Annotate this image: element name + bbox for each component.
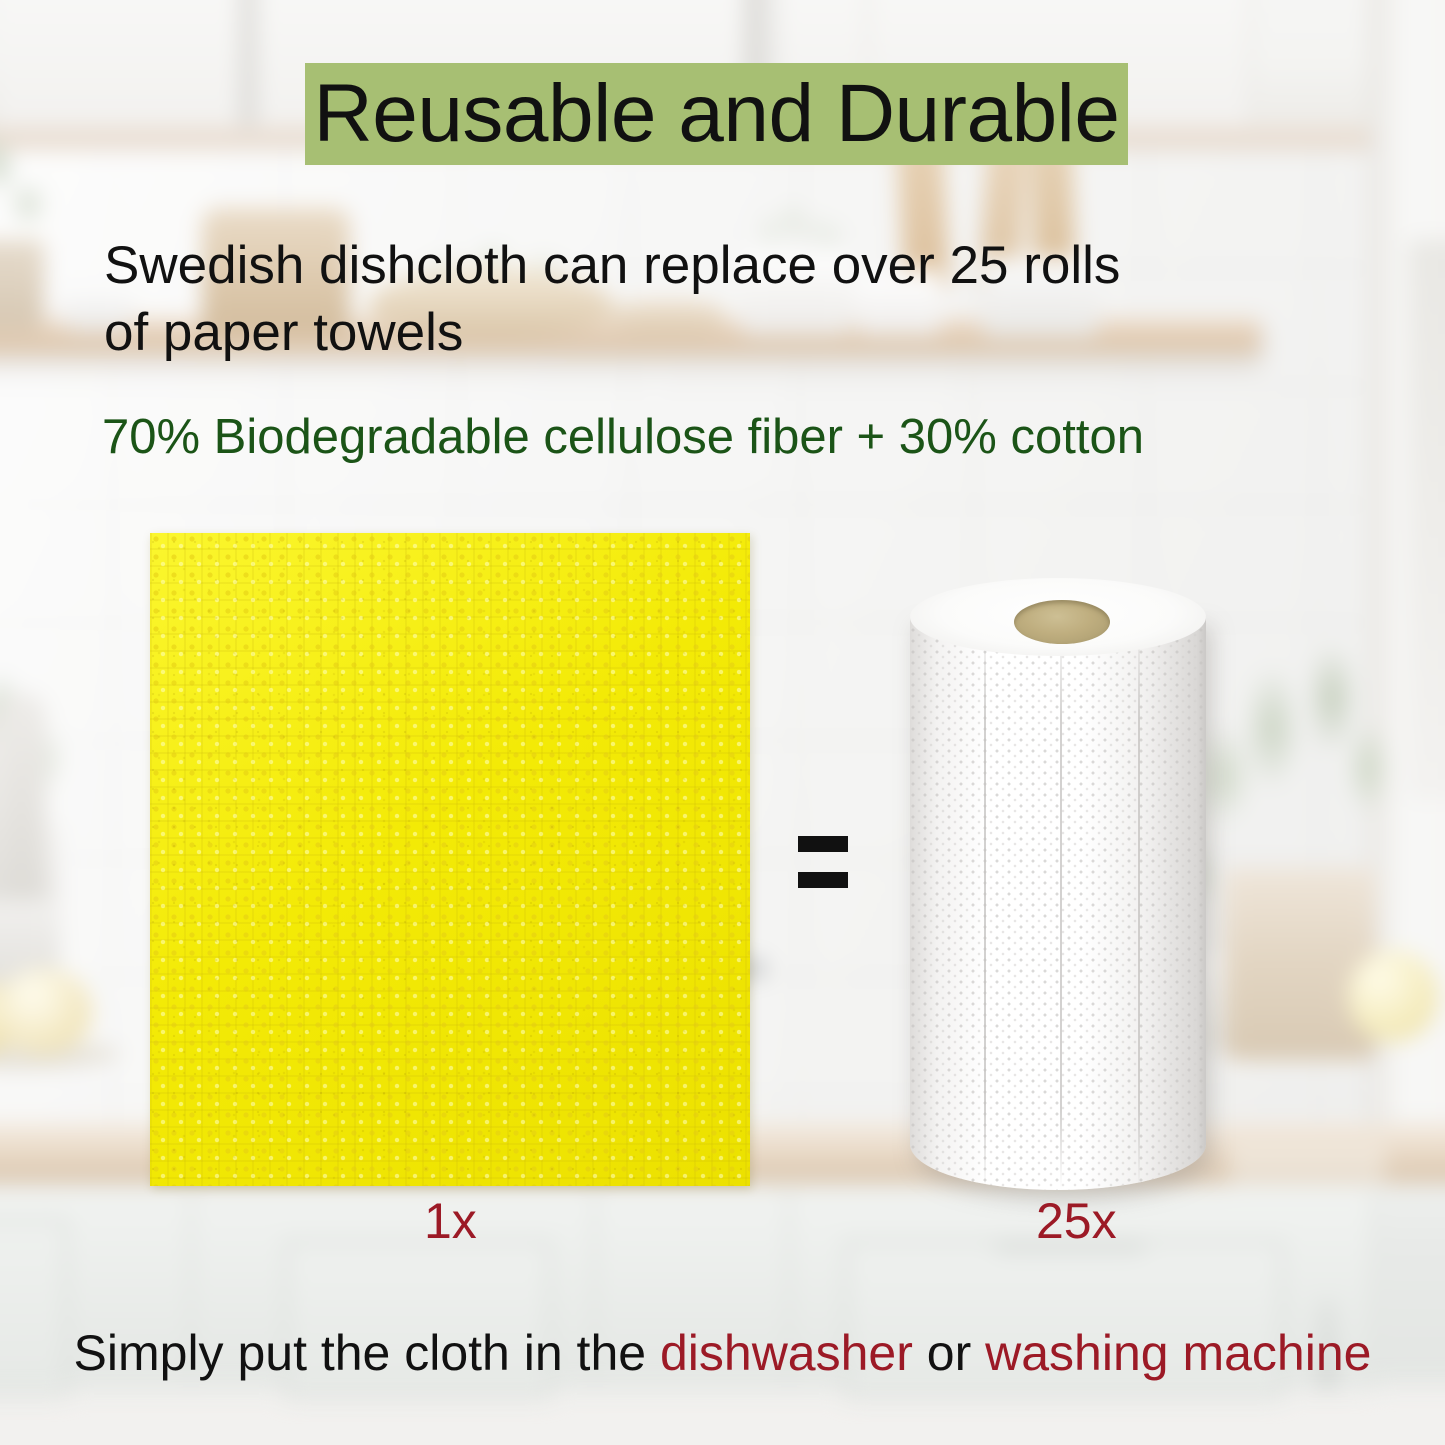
title-banner: Reusable and Durable (305, 63, 1128, 165)
care-text-part1: Simply put the cloth in the (74, 1325, 660, 1381)
infographic-foreground: Reusable and Durable Swedish dishcloth c… (0, 0, 1445, 1445)
dishcloth-quantity-label: 1x (424, 1196, 477, 1246)
roll-seam-left (984, 616, 986, 1190)
swedish-dishcloth-image (150, 533, 750, 1186)
roll-texture (910, 616, 1206, 1190)
paper-towel-roll-image (910, 578, 1206, 1190)
roll-cardboard-core (1014, 600, 1110, 644)
care-instruction-text: Simply put the cloth in the dishwasher o… (0, 1326, 1445, 1381)
care-text-part2: or (913, 1325, 985, 1381)
material-claim-text: 70% Biodegradable cellulose fiber + 30% … (102, 408, 1144, 467)
page-title: Reusable and Durable (314, 73, 1120, 155)
care-text-washing-machine: washing machine (985, 1325, 1371, 1381)
dishcloth-texture (150, 533, 750, 1186)
roll-body (910, 616, 1206, 1190)
headline-text: Swedish dishcloth can replace over 25 ro… (104, 232, 1144, 367)
paper-towel-quantity-label: 25x (1036, 1196, 1117, 1246)
care-text-dishwasher: dishwasher (660, 1325, 913, 1381)
roll-seam-center (1060, 616, 1062, 1190)
roll-seam-right (1138, 616, 1140, 1190)
equals-bar-top (798, 836, 848, 852)
equals-icon (798, 836, 848, 888)
equals-bar-bottom (798, 872, 848, 888)
infographic-canvas: Reusable and Durable Swedish dishcloth c… (0, 0, 1445, 1445)
